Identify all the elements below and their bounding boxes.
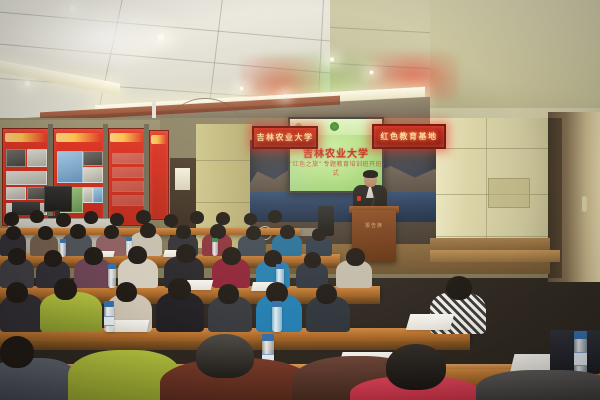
attendee-head xyxy=(128,246,147,264)
attendee-head xyxy=(84,211,98,224)
presenter-hair xyxy=(363,170,378,178)
bottle-cap xyxy=(272,301,282,307)
exhibition-board xyxy=(149,130,169,220)
bottle-cap xyxy=(262,334,274,341)
attendee-head xyxy=(38,226,53,240)
attendee-head xyxy=(304,252,321,268)
attendee-head xyxy=(6,282,28,303)
bottle-cap xyxy=(212,238,218,242)
attendee-head xyxy=(54,278,77,300)
bottle-cap xyxy=(108,264,116,269)
attendee-head xyxy=(70,224,86,239)
attendee-head xyxy=(280,225,295,239)
bottle-cap xyxy=(574,331,587,339)
water-bottle xyxy=(108,268,116,288)
doorway-light-panel xyxy=(175,168,190,190)
water-bottle xyxy=(272,306,282,332)
attendee-head xyxy=(56,213,71,227)
led-banner-left-text: 吉林农业大学 xyxy=(257,132,314,143)
attendee-head xyxy=(6,226,21,240)
attendee-head xyxy=(140,223,156,238)
notebook-page xyxy=(111,320,150,332)
attendee-head xyxy=(312,228,326,241)
bottle-label xyxy=(574,352,587,366)
attendee-head xyxy=(316,284,337,304)
downlight xyxy=(238,86,245,91)
bottle-cap xyxy=(126,237,132,241)
bottle-label xyxy=(104,316,114,326)
presenter-badge-icon xyxy=(357,196,361,201)
attendee-head xyxy=(176,244,196,263)
wall-access-panel xyxy=(488,178,530,208)
attendee-body xyxy=(476,370,600,400)
downlight xyxy=(368,70,375,75)
attendee-head xyxy=(386,344,446,390)
bottle-cap xyxy=(60,239,66,243)
attendee-head xyxy=(168,278,191,300)
attendee-head xyxy=(210,224,226,239)
attendee-head xyxy=(246,226,261,240)
audience-area xyxy=(0,210,600,400)
attendee-head xyxy=(268,210,282,223)
attendee-head xyxy=(190,211,204,224)
attendee-head xyxy=(218,284,239,304)
attendee-head xyxy=(84,247,103,265)
led-banner-right: 红色教育基地 xyxy=(372,124,446,149)
monitor-icon xyxy=(44,186,72,212)
attendee-head xyxy=(8,248,26,265)
downlight xyxy=(282,94,288,98)
attendee-head xyxy=(116,282,137,302)
handout-paper xyxy=(406,314,455,330)
attendee-head xyxy=(446,276,472,300)
attendee-head xyxy=(244,213,257,225)
led-banner-left: 吉林农业大学 xyxy=(252,126,318,149)
conference-hall-photo: 吉林农业大学 "红色之旅" 专题教育培训班开班式 吉林农业大学 红色教育基地 报… xyxy=(0,0,600,400)
microphone-head-icon xyxy=(376,194,380,198)
bottle-cap xyxy=(276,264,284,269)
attendee-head xyxy=(176,225,191,239)
attendee-head xyxy=(44,250,62,267)
attendee-head xyxy=(164,214,178,227)
attendee-head xyxy=(4,212,19,226)
attendee-head xyxy=(222,247,241,265)
attendee-head xyxy=(30,210,44,223)
attendee-head xyxy=(266,282,288,303)
bottle-cap xyxy=(104,301,114,307)
attendee-head xyxy=(196,334,254,378)
downlight xyxy=(22,80,33,87)
led-banner-right-text: 红色教育基地 xyxy=(381,131,438,142)
attendee-head xyxy=(104,225,119,239)
attendee-head xyxy=(136,210,151,224)
ceiling-glow xyxy=(10,0,190,70)
water-bottle xyxy=(212,241,218,256)
attendee-head xyxy=(346,248,365,266)
downlight xyxy=(328,57,336,62)
attendee-head xyxy=(0,336,34,368)
